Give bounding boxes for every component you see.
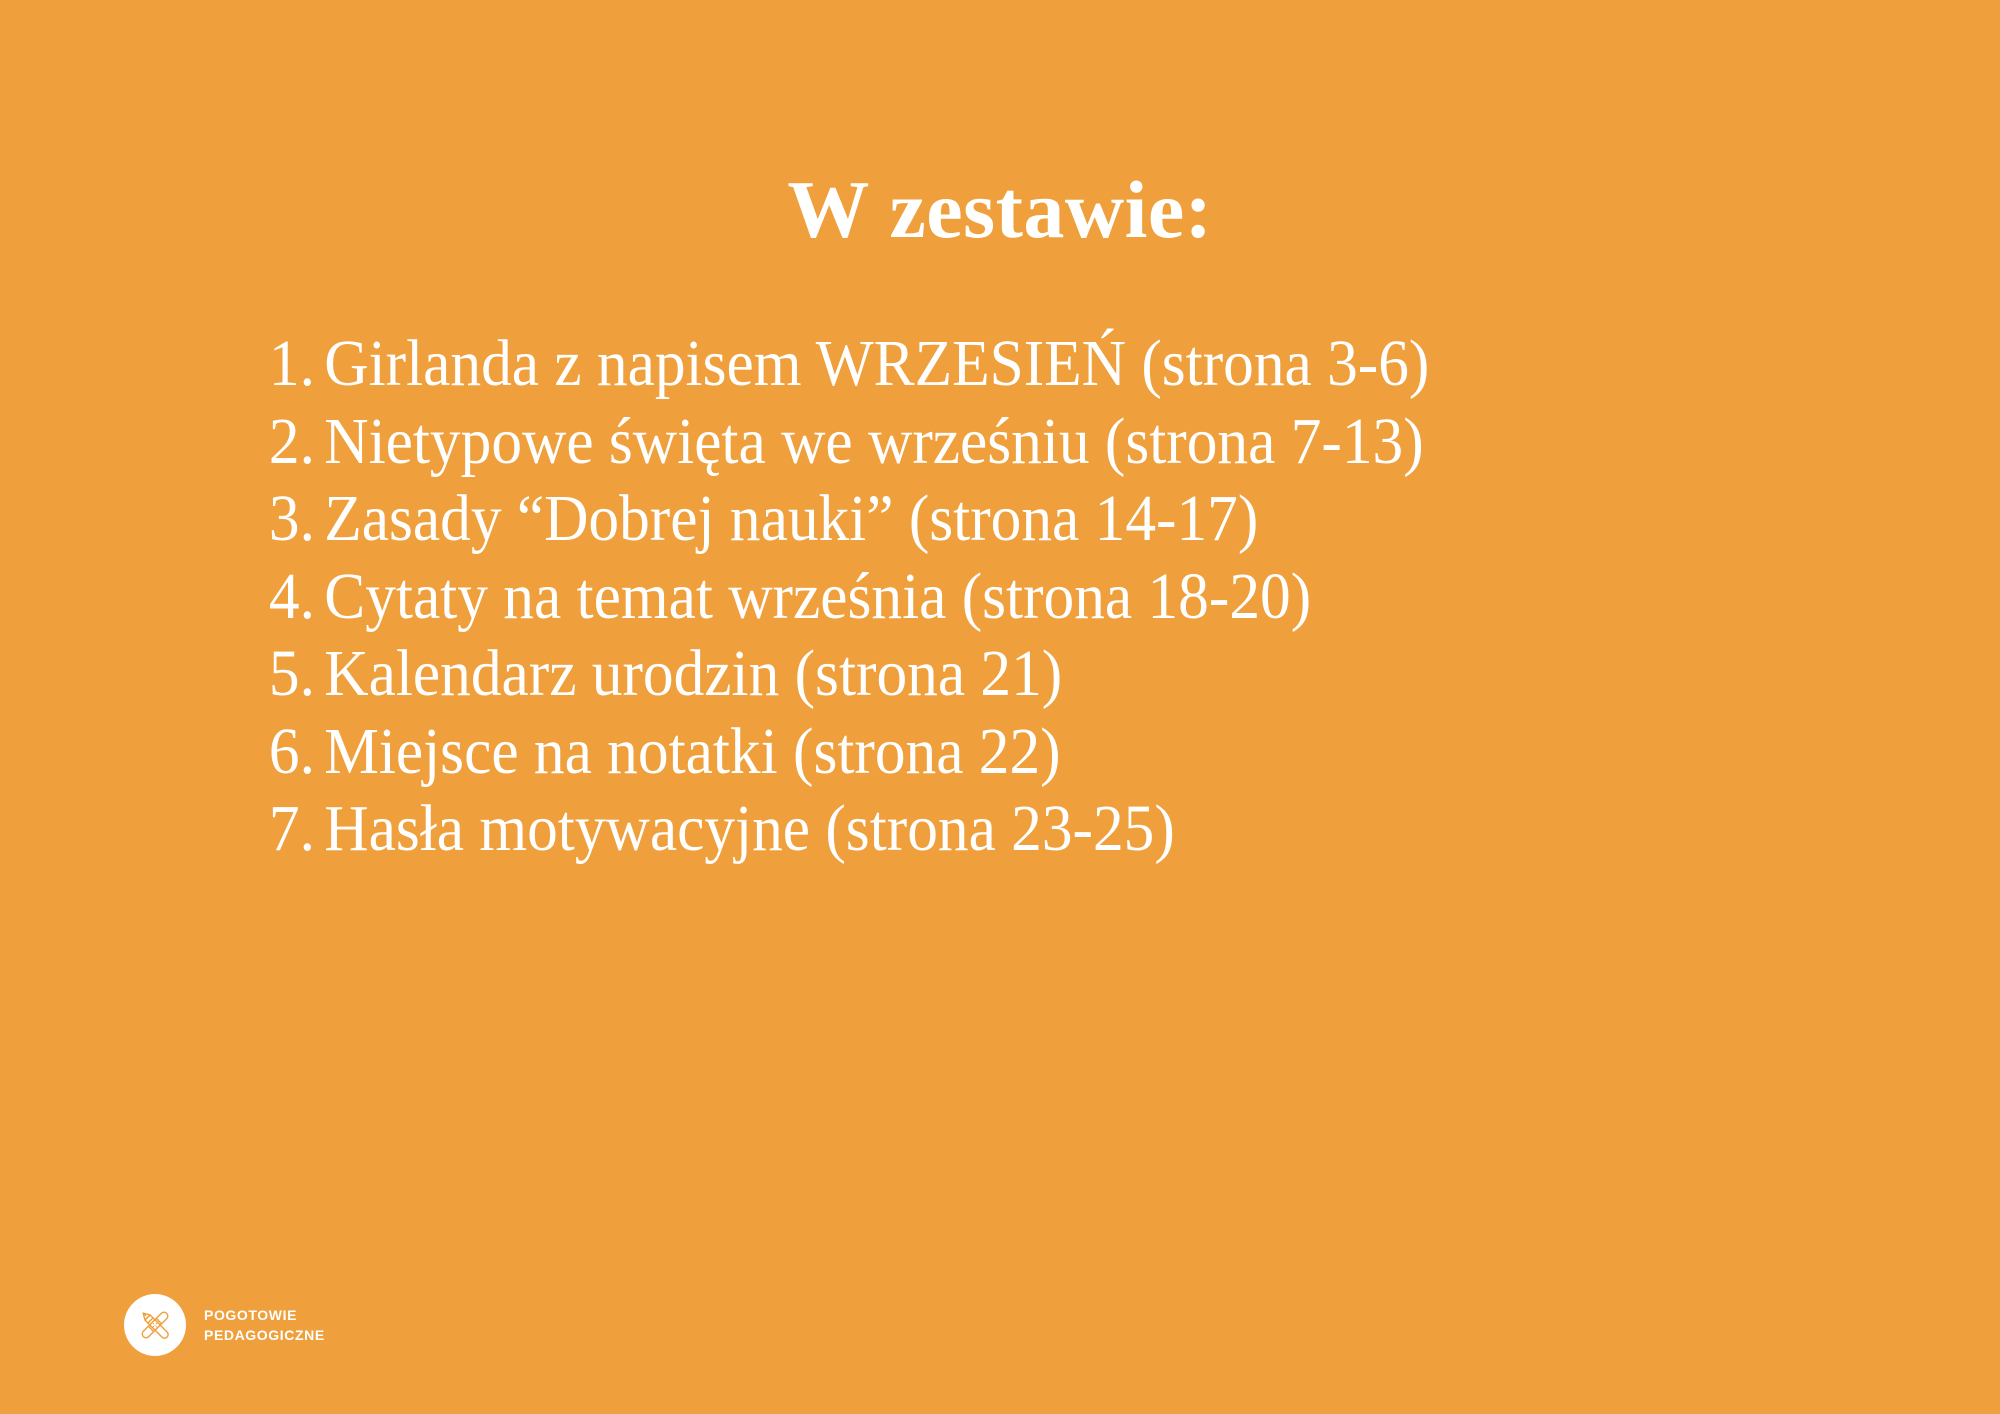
logo-badge xyxy=(124,1294,186,1356)
crossed-bandage-pencil-icon xyxy=(132,1302,178,1348)
list-item-number: 7. xyxy=(248,790,324,868)
list-item: 1. Girlanda z napisem WRZESIEŃ (strona 3… xyxy=(248,325,1829,403)
list-item-number: 6. xyxy=(248,713,324,791)
list-item-label: Nietypowe święta we wrześniu (strona 7-1… xyxy=(324,403,1423,481)
logo-wordmark: Pogotowie Pedagogiczne xyxy=(204,1305,325,1346)
slide-canvas: W zestawie: 1. Girlanda z napisem WRZESI… xyxy=(0,0,2000,1414)
list-item-number: 5. xyxy=(248,635,324,713)
list-item: 5. Kalendarz urodzin (strona 21) xyxy=(248,635,1829,713)
list-item-number: 2. xyxy=(248,403,324,481)
brand-logo: Pogotowie Pedagogiczne xyxy=(124,1294,325,1356)
page-title: W zestawie: xyxy=(0,167,2000,253)
list-item-number: 3. xyxy=(248,480,324,558)
logo-wordmark-line-2: Pedagogiczne xyxy=(204,1325,325,1345)
list-item-label: Kalendarz urodzin (strona 21) xyxy=(324,635,1062,713)
list-item-label: Miejsce na notatki (strona 22) xyxy=(324,713,1060,791)
list-item: 7. Hasła motywacyjne (strona 23-25) xyxy=(248,790,1829,868)
contents-list: 1. Girlanda z napisem WRZESIEŃ (strona 3… xyxy=(248,325,1948,868)
list-item-label: Girlanda z napisem WRZESIEŃ (strona 3-6) xyxy=(324,325,1429,403)
list-item-label: Zasady “Dobrej nauki” (strona 14-17) xyxy=(324,480,1258,558)
list-item: 6. Miejsce na notatki (strona 22) xyxy=(248,713,1829,791)
list-item-label: Hasła motywacyjne (strona 23-25) xyxy=(324,790,1175,868)
list-item-label: Cytaty na temat września (strona 18-20) xyxy=(324,558,1311,636)
list-item: 4. Cytaty na temat września (strona 18-2… xyxy=(248,558,1829,636)
list-item-number: 1. xyxy=(248,325,324,403)
list-item: 2. Nietypowe święta we wrześniu (strona … xyxy=(248,403,1829,481)
list-item: 3. Zasady “Dobrej nauki” (strona 14-17) xyxy=(248,480,1829,558)
logo-wordmark-line-1: Pogotowie xyxy=(204,1305,325,1325)
numbered-list: 1. Girlanda z napisem WRZESIEŃ (strona 3… xyxy=(248,325,1948,868)
list-item-number: 4. xyxy=(248,558,324,636)
